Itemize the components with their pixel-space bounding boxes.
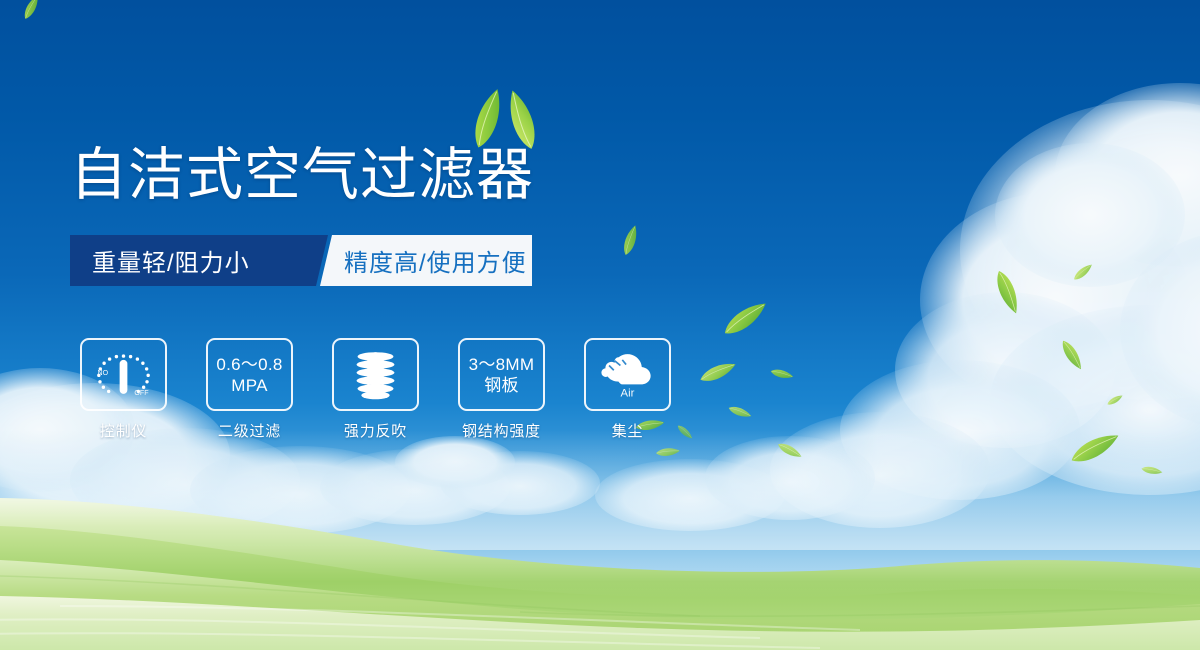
svg-text:OFF: OFF	[134, 389, 149, 397]
svg-text:NO: NO	[98, 369, 109, 377]
pressure-text-icon: 0.6～0.8 MPA	[216, 354, 282, 396]
feature-item-blowback[interactable]: 强力反吹	[332, 338, 419, 441]
feature-item-steel[interactable]: 3～8MM 钢板 钢结构强度	[458, 338, 545, 441]
pressure-line-1: 0.6～0.8	[216, 354, 282, 375]
feature-item-dust[interactable]: Air 集尘	[584, 338, 671, 441]
air-cloud-icon: Air	[584, 340, 671, 409]
subtitle-group: 重量轻/阻力小 精度高/使用方便	[70, 235, 462, 286]
subtitle-right-label: 精度高/使用方便	[344, 243, 527, 278]
feature-label: 强力反吹	[344, 420, 407, 441]
page-title: 自洁式空气过滤器	[70, 141, 534, 209]
steel-line-2: 钢板	[469, 375, 535, 396]
leaf-layer	[0, 0, 1200, 650]
subtitle-badge-right: 精度高/使用方便	[320, 235, 532, 286]
feature-item-controller[interactable]: NO OFF 控制仪	[80, 338, 167, 441]
feature-label: 控制仪	[100, 420, 147, 441]
promo-banner: 自洁式空气过滤器 重量轻/阻力小 精度高/使用方便	[0, 0, 1200, 650]
gauge-icon: NO OFF	[80, 340, 167, 409]
subtitle-left-label: 重量轻/阻力小	[92, 243, 250, 278]
feature-icon-box: 0.6～0.8 MPA	[206, 338, 293, 411]
subtitle-badge-left: 重量轻/阻力小	[70, 235, 328, 286]
feature-label: 集尘	[612, 420, 644, 441]
steel-line-1: 3～8MM	[469, 354, 535, 375]
feature-icon-box: Air	[584, 338, 671, 411]
feature-icon-box	[332, 338, 419, 411]
feature-item-pressure[interactable]: 0.6～0.8 MPA 二级过滤	[206, 338, 293, 441]
pressure-line-2: MPA	[216, 375, 282, 396]
feature-label: 二级过滤	[218, 420, 281, 441]
feature-icon-box: NO OFF	[80, 338, 167, 411]
feature-list: NO OFF 控制仪 0.6～0.8 MPA 二级过滤	[80, 338, 671, 441]
feature-icon-box: 3～8MM 钢板	[458, 338, 545, 411]
filter-stack-icon	[332, 340, 419, 409]
steel-text-icon: 3～8MM 钢板	[469, 354, 535, 396]
air-caption: Air	[621, 388, 635, 400]
feature-label: 钢结构强度	[462, 420, 541, 441]
